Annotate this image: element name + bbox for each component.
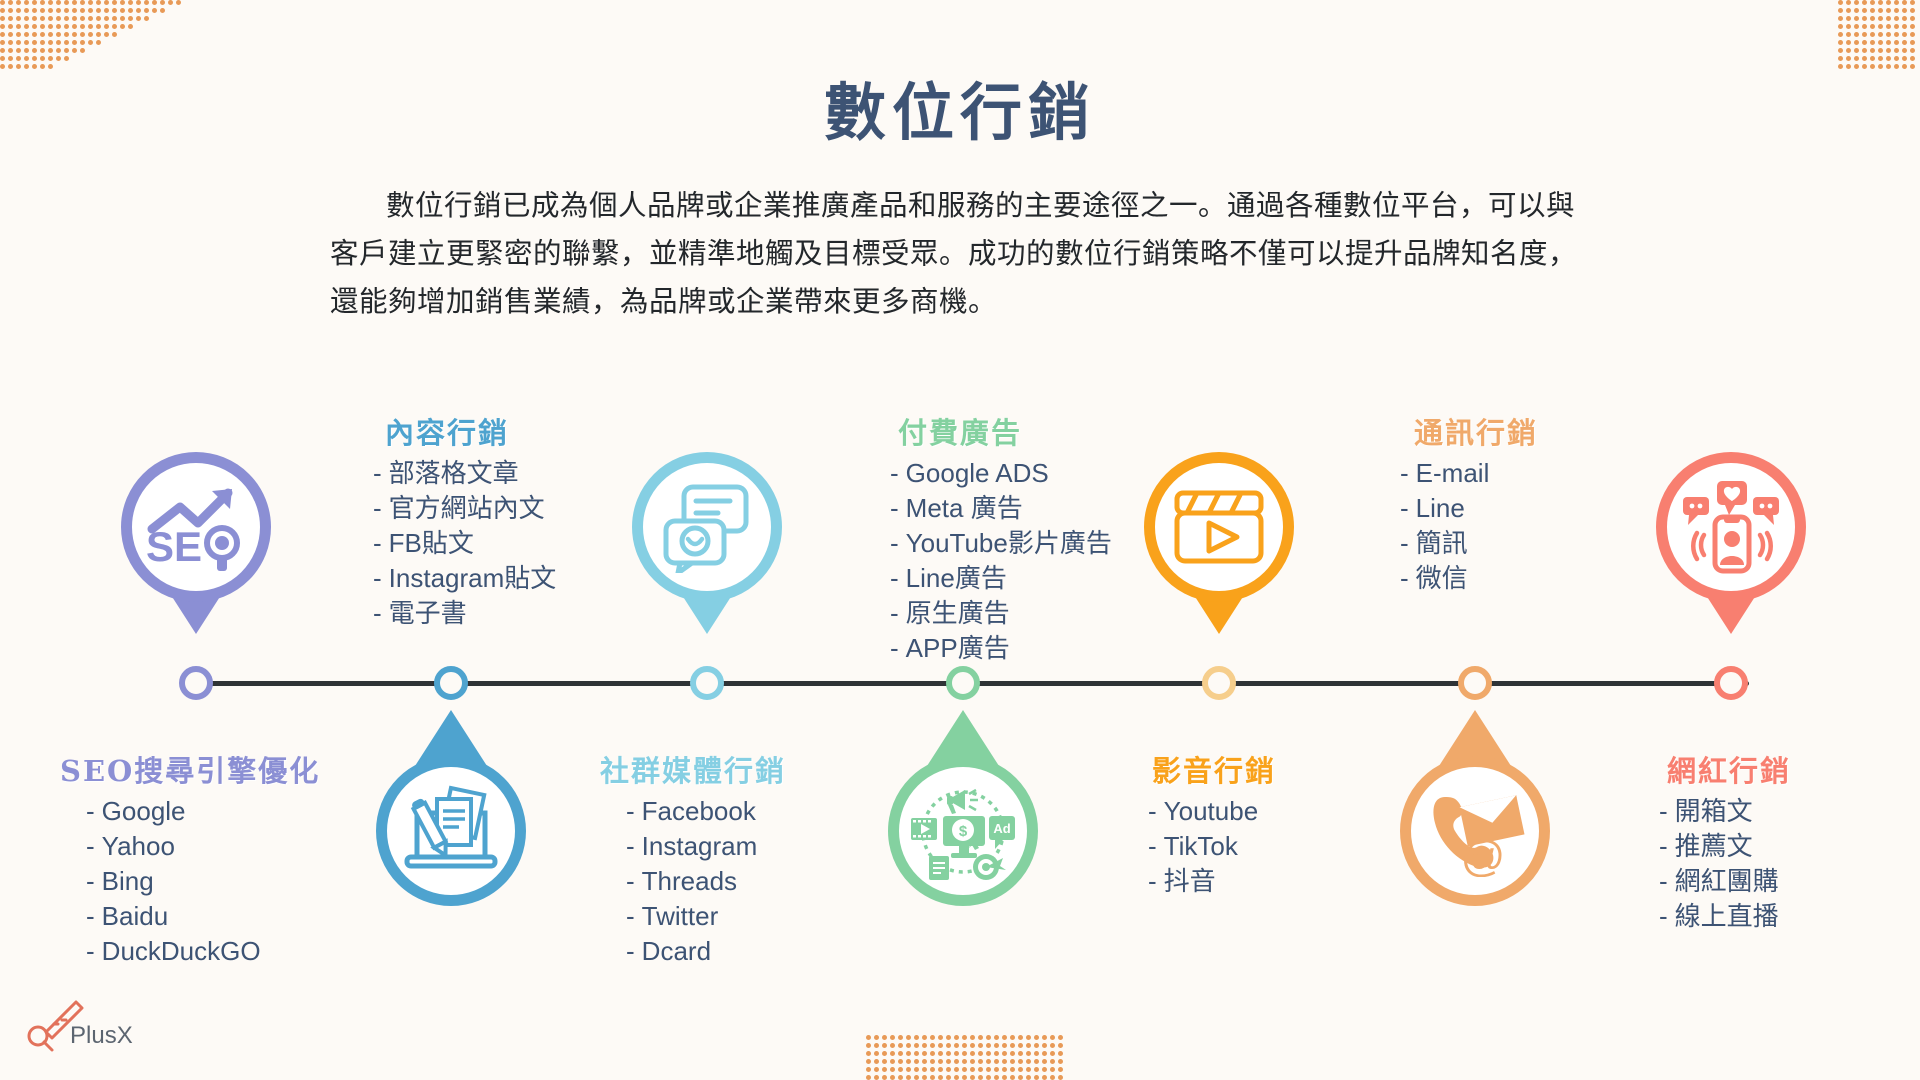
channel-list-messaging: -E-mail -Line -簡訊 -微信 xyxy=(1400,456,1680,596)
influencer-phone-heart-icon xyxy=(1656,452,1806,602)
timeline-node-video[interactable] xyxy=(1202,666,1236,700)
list-item: -部落格文章 xyxy=(373,456,655,491)
channel-block-content: 內容行銷 -部落格文章 -官方網站內文 -FB貼文 -Instagram貼文 -… xyxy=(365,410,655,631)
svg-text:SE: SE xyxy=(146,523,202,570)
list-item: -Instagram貼文 xyxy=(373,561,655,596)
list-item: -開箱文 xyxy=(1659,794,1920,829)
seo-trend-magnifier-icon: SE xyxy=(121,452,271,602)
page-title: 數位行銷 xyxy=(0,62,1920,152)
timeline-node-social[interactable] xyxy=(690,666,724,700)
list-item: -Line xyxy=(1400,491,1680,526)
channel-heading-social: 社群媒體行銷 xyxy=(600,748,900,790)
logo-text: PlusX xyxy=(70,1022,133,1050)
list-item: -Baidu xyxy=(86,899,360,934)
channel-heading-content: 內容行銷 xyxy=(365,410,655,452)
svg-text:Ad: Ad xyxy=(993,821,1010,836)
list-item: -電子書 xyxy=(373,596,655,631)
channel-heading-seo: SEO搜尋引擎優化 xyxy=(60,748,360,790)
chat-bubbles-icon xyxy=(632,452,782,602)
timeline-node-paid[interactable] xyxy=(946,666,980,700)
list-item: -Dcard xyxy=(626,934,900,969)
list-item: -推薦文 xyxy=(1659,829,1920,864)
list-item: -Bing xyxy=(86,864,360,899)
list-item: -Instagram xyxy=(626,829,900,864)
channel-list-video: -Youtube -TikTok -抖音 xyxy=(1130,794,1410,899)
list-item: -E-mail xyxy=(1400,456,1680,491)
timeline-node-messaging[interactable] xyxy=(1458,666,1492,700)
list-item: -DuckDuckGO xyxy=(86,934,360,969)
plusx-logo: PlusX xyxy=(24,996,154,1064)
pin-social[interactable] xyxy=(632,452,782,630)
list-item: -Threads xyxy=(626,864,900,899)
channel-block-social: 社群媒體行銷 -Facebook -Instagram -Threads -Tw… xyxy=(600,748,900,969)
decorative-dots-top-left xyxy=(0,0,190,70)
list-item: -TikTok xyxy=(1148,829,1410,864)
list-item: -Youtube xyxy=(1148,794,1410,829)
channel-heading-messaging: 通訊行銷 xyxy=(1400,410,1680,452)
list-item: -線上直播 xyxy=(1659,899,1920,934)
decorative-dots-top-right xyxy=(1838,0,1920,68)
list-item: -APP廣告 xyxy=(890,631,1190,666)
intro-paragraph: 數位行銷已成為個人品牌或企業推廣產品和服務的主要途徑之一。通過各種數位平台，可以… xyxy=(330,182,1600,326)
channel-heading-video: 影音行銷 xyxy=(1130,748,1410,790)
decorative-dots-bottom-center xyxy=(866,1035,1066,1080)
timeline-node-influencer[interactable] xyxy=(1714,666,1748,700)
pin-seo[interactable]: SE xyxy=(121,452,271,630)
channel-list-influencer: -開箱文 -推薦文 -網紅團購 -線上直播 xyxy=(1645,794,1920,934)
list-item: -簡訊 xyxy=(1400,526,1680,561)
phone-envelope-at-icon: @ xyxy=(1400,756,1550,906)
pin-messaging[interactable]: @ xyxy=(1400,756,1550,934)
list-item: -網紅團購 xyxy=(1659,864,1920,899)
channel-list-content: -部落格文章 -官方網站內文 -FB貼文 -Instagram貼文 -電子書 xyxy=(365,456,655,631)
clapperboard-play-icon xyxy=(1144,452,1294,602)
list-item: -Yahoo xyxy=(86,829,360,864)
channel-heading-influencer: 網紅行銷 xyxy=(1645,748,1920,790)
channel-block-messaging: 通訊行銷 -E-mail -Line -簡訊 -微信 xyxy=(1400,410,1680,596)
laptop-document-pencil-icon xyxy=(376,756,526,906)
channel-list-social: -Facebook -Instagram -Threads -Twitter -… xyxy=(600,794,900,969)
channel-block-video: 影音行銷 -Youtube -TikTok -抖音 xyxy=(1130,748,1410,899)
channel-heading-paid: 付費廣告 xyxy=(890,410,1190,452)
svg-text:$: $ xyxy=(959,823,968,840)
list-item: -官方網站內文 xyxy=(373,491,655,526)
pin-influencer[interactable] xyxy=(1656,452,1806,630)
list-item: -FB貼文 xyxy=(373,526,655,561)
channel-list-seo: -Google -Yahoo -Bing -Baidu -DuckDuckGO xyxy=(60,794,360,969)
timeline-node-content[interactable] xyxy=(434,666,468,700)
list-item: -Facebook xyxy=(626,794,900,829)
pin-paid[interactable]: $ Ad xyxy=(888,756,1038,934)
channel-block-influencer: 網紅行銷 -開箱文 -推薦文 -網紅團購 -線上直播 xyxy=(1645,748,1920,934)
pin-content[interactable] xyxy=(376,756,526,934)
list-item: -Twitter xyxy=(626,899,900,934)
list-item: -Google xyxy=(86,794,360,829)
channel-block-seo: SEO搜尋引擎優化 -Google -Yahoo -Bing -Baidu -D… xyxy=(60,748,360,969)
list-item: -微信 xyxy=(1400,561,1680,596)
timeline-node-seo[interactable] xyxy=(179,666,213,700)
list-item: -抖音 xyxy=(1148,864,1410,899)
pin-video[interactable] xyxy=(1144,452,1294,630)
ads-monitor-megaphone-icon: $ Ad xyxy=(888,756,1038,906)
svg-text:@: @ xyxy=(1461,832,1506,877)
